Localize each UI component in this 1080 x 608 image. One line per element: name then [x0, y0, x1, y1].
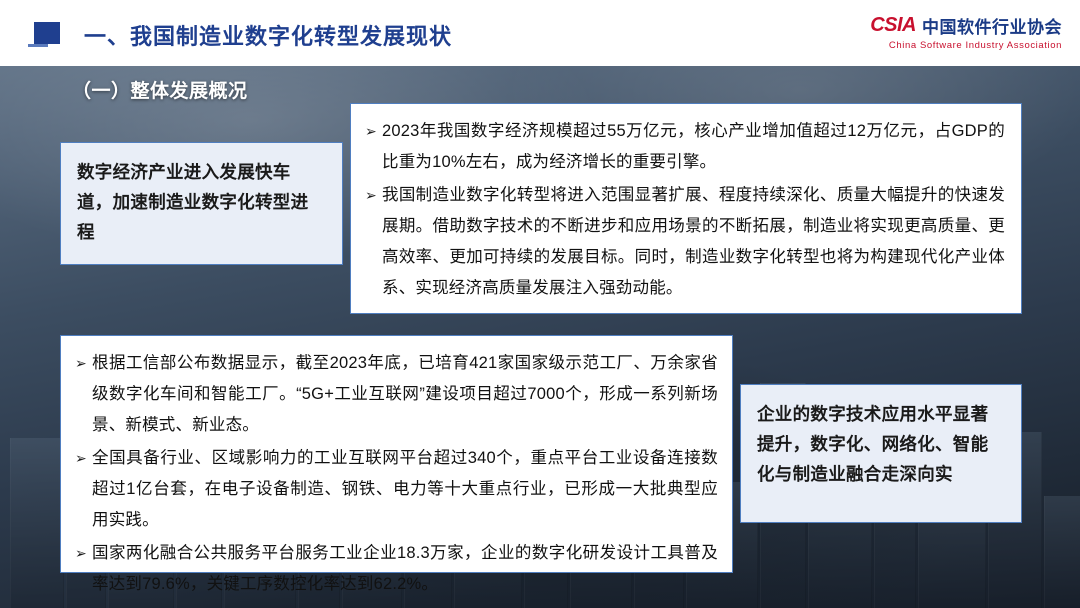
arrow-bullet-icon: ➢ [365, 116, 382, 147]
list-item: ➢ 全国具备行业、区域影响力的工业互联网平台超过340个，重点平台工业设备连接数… [75, 443, 718, 536]
logo-chinese-name: 中国软件行业协会 [922, 13, 1062, 38]
logo: CSIA 中国软件行业协会 China Software Industry As… [812, 8, 1062, 56]
list-item-text: 国家两化融合公共服务平台服务工业企业18.3万家，企业的数字化研发设计工具普及率… [92, 538, 718, 600]
left-highlight-text: 数字经济产业进入发展快车道，加速制造业数字化转型进程 [77, 157, 326, 247]
list-item-text: 根据工信部公布数据显示，截至2023年底，已培育421家国家级示范工厂、万余家省… [92, 348, 718, 441]
arrow-bullet-icon: ➢ [75, 443, 92, 474]
left-highlight-box: 数字经济产业进入发展快车道，加速制造业数字化转型进程 [60, 142, 343, 265]
list-item: ➢ 2023年我国数字经济规模超过55万亿元，核心产业增加值超过12万亿元，占G… [365, 116, 1005, 178]
header-bar: 一、我国制造业数字化转型发展现状 CSIA 中国软件行业协会 China Sof… [0, 0, 1080, 66]
logo-english-name: China Software Industry Association [889, 40, 1062, 51]
arrow-bullet-icon: ➢ [75, 538, 92, 569]
section-subtitle: （一）整体发展概况 [72, 76, 248, 103]
arrow-bullet-icon: ➢ [365, 180, 382, 211]
header-accent-line [28, 44, 48, 47]
page-title: 一、我国制造业数字化转型发展现状 [84, 19, 452, 51]
header-accent-square [34, 22, 60, 44]
skyline-block [1044, 496, 1080, 608]
list-item: ➢ 根据工信部公布数据显示，截至2023年底，已培育421家国家级示范工厂、万余… [75, 348, 718, 441]
list-item-text: 全国具备行业、区域影响力的工业互联网平台超过340个，重点平台工业设备连接数超过… [92, 443, 718, 536]
bottom-bullet-list: ➢ 根据工信部公布数据显示，截至2023年底，已培育421家国家级示范工厂、万余… [75, 348, 718, 600]
right-highlight-text: 企业的数字技术应用水平显著提升，数字化、网络化、智能化与制造业融合走深向实 [757, 399, 1005, 489]
top-bullet-list: ➢ 2023年我国数字经济规模超过55万亿元，核心产业增加值超过12万亿元，占G… [365, 116, 1005, 304]
skyline-block [10, 438, 64, 608]
right-highlight-box: 企业的数字技术应用水平显著提升，数字化、网络化、智能化与制造业融合走深向实 [740, 384, 1022, 523]
top-bullet-box: ➢ 2023年我国数字经济规模超过55万亿元，核心产业增加值超过12万亿元，占G… [350, 103, 1022, 314]
arrow-bullet-icon: ➢ [75, 348, 92, 379]
list-item: ➢ 国家两化融合公共服务平台服务工业企业18.3万家，企业的数字化研发设计工具普… [75, 538, 718, 600]
list-item-text: 2023年我国数字经济规模超过55万亿元，核心产业增加值超过12万亿元，占GDP… [382, 116, 1005, 178]
logo-mark-text: CSIA [870, 14, 916, 37]
bottom-bullet-box: ➢ 根据工信部公布数据显示，截至2023年底，已培育421家国家级示范工厂、万余… [60, 335, 733, 573]
logo-top-row: CSIA 中国软件行业协会 [870, 13, 1062, 38]
list-item-text: 我国制造业数字化转型将进入范围显著扩展、程度持续深化、质量大幅提升的快速发展期。… [382, 180, 1005, 304]
list-item: ➢ 我国制造业数字化转型将进入范围显著扩展、程度持续深化、质量大幅提升的快速发展… [365, 180, 1005, 304]
slide: 一、我国制造业数字化转型发展现状 CSIA 中国软件行业协会 China Sof… [0, 0, 1080, 608]
